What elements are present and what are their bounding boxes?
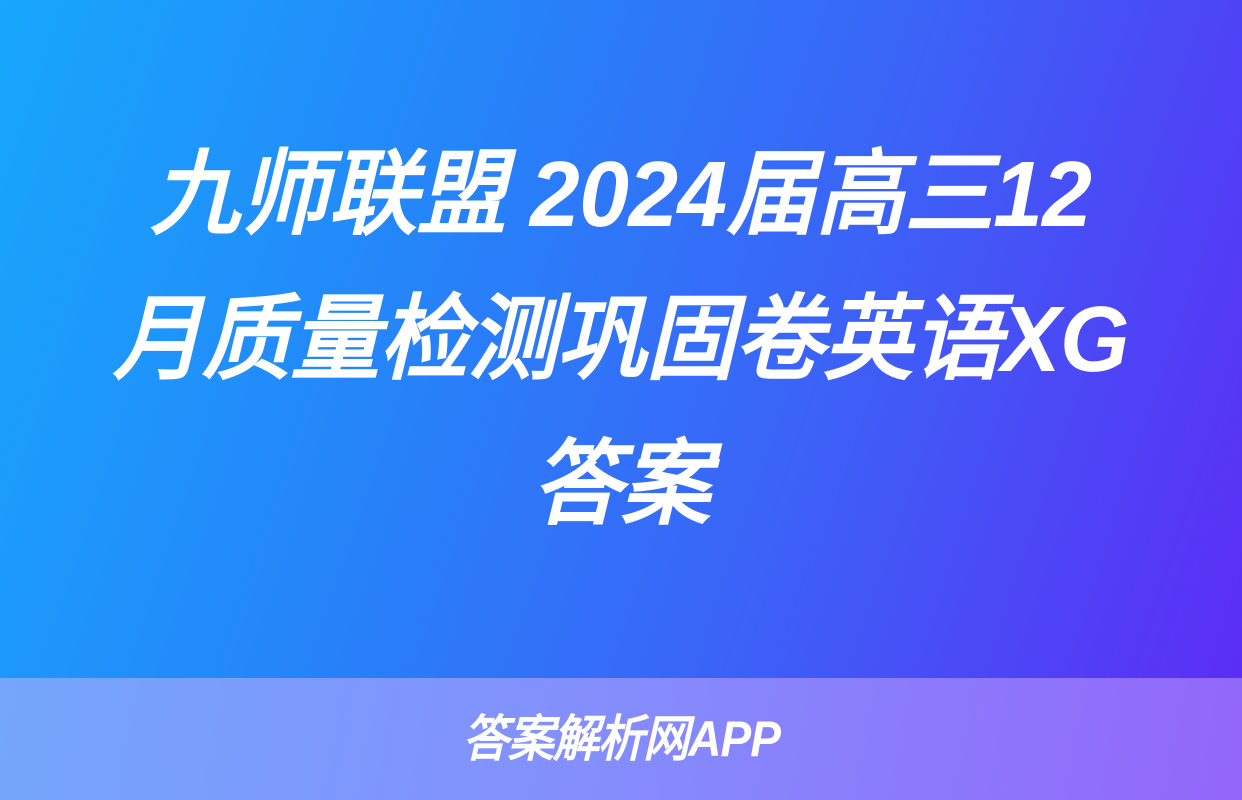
watermark-band: 答案解析网APP	[0, 678, 1242, 800]
title-block: 九师联盟 2024届高三12月质量检测巩固卷英语XG答案	[0, 0, 1242, 678]
poster-canvas: 九师联盟 2024届高三12月质量检测巩固卷英语XG答案 答案解析网APP	[0, 0, 1242, 800]
page-title: 九师联盟 2024届高三12月质量检测巩固卷英语XG答案	[106, 122, 1135, 557]
watermark-text: 答案解析网APP	[462, 714, 779, 764]
